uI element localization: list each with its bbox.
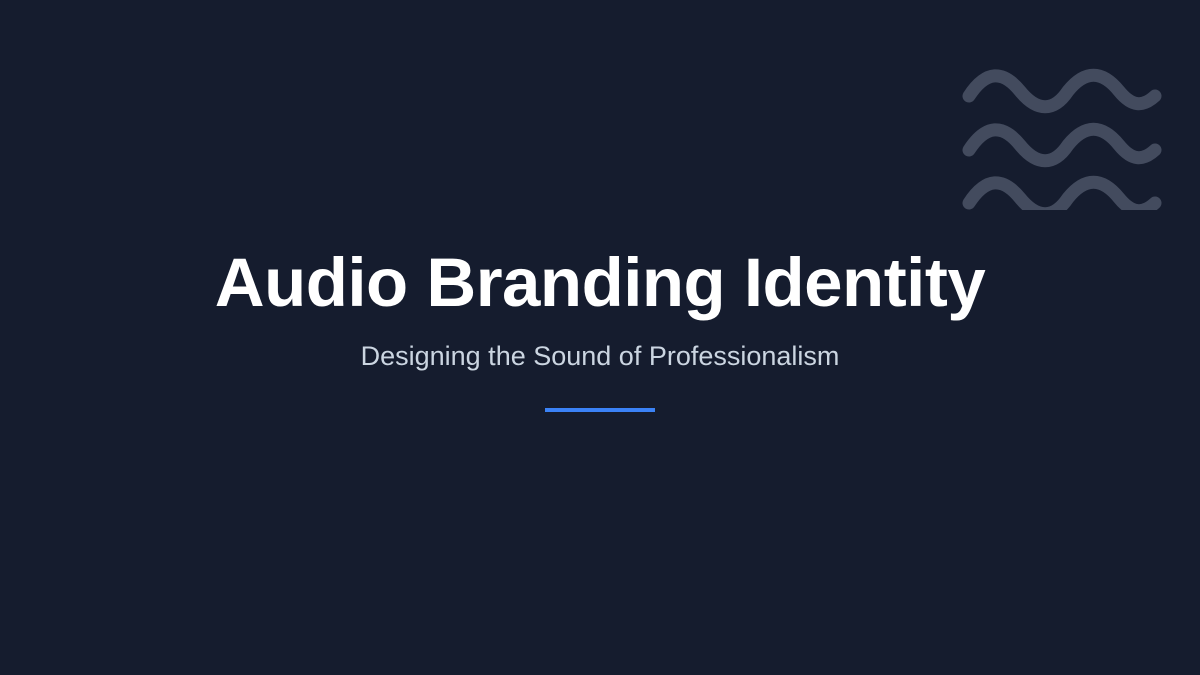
page-subtitle: Designing the Sound of Professionalism: [0, 340, 1200, 372]
title-slide: Audio Branding Identity Designing the So…: [0, 0, 1200, 675]
page-title: Audio Branding Identity: [0, 248, 1200, 317]
hero-content: Audio Branding Identity Designing the So…: [0, 0, 1200, 675]
accent-divider: [545, 408, 655, 412]
